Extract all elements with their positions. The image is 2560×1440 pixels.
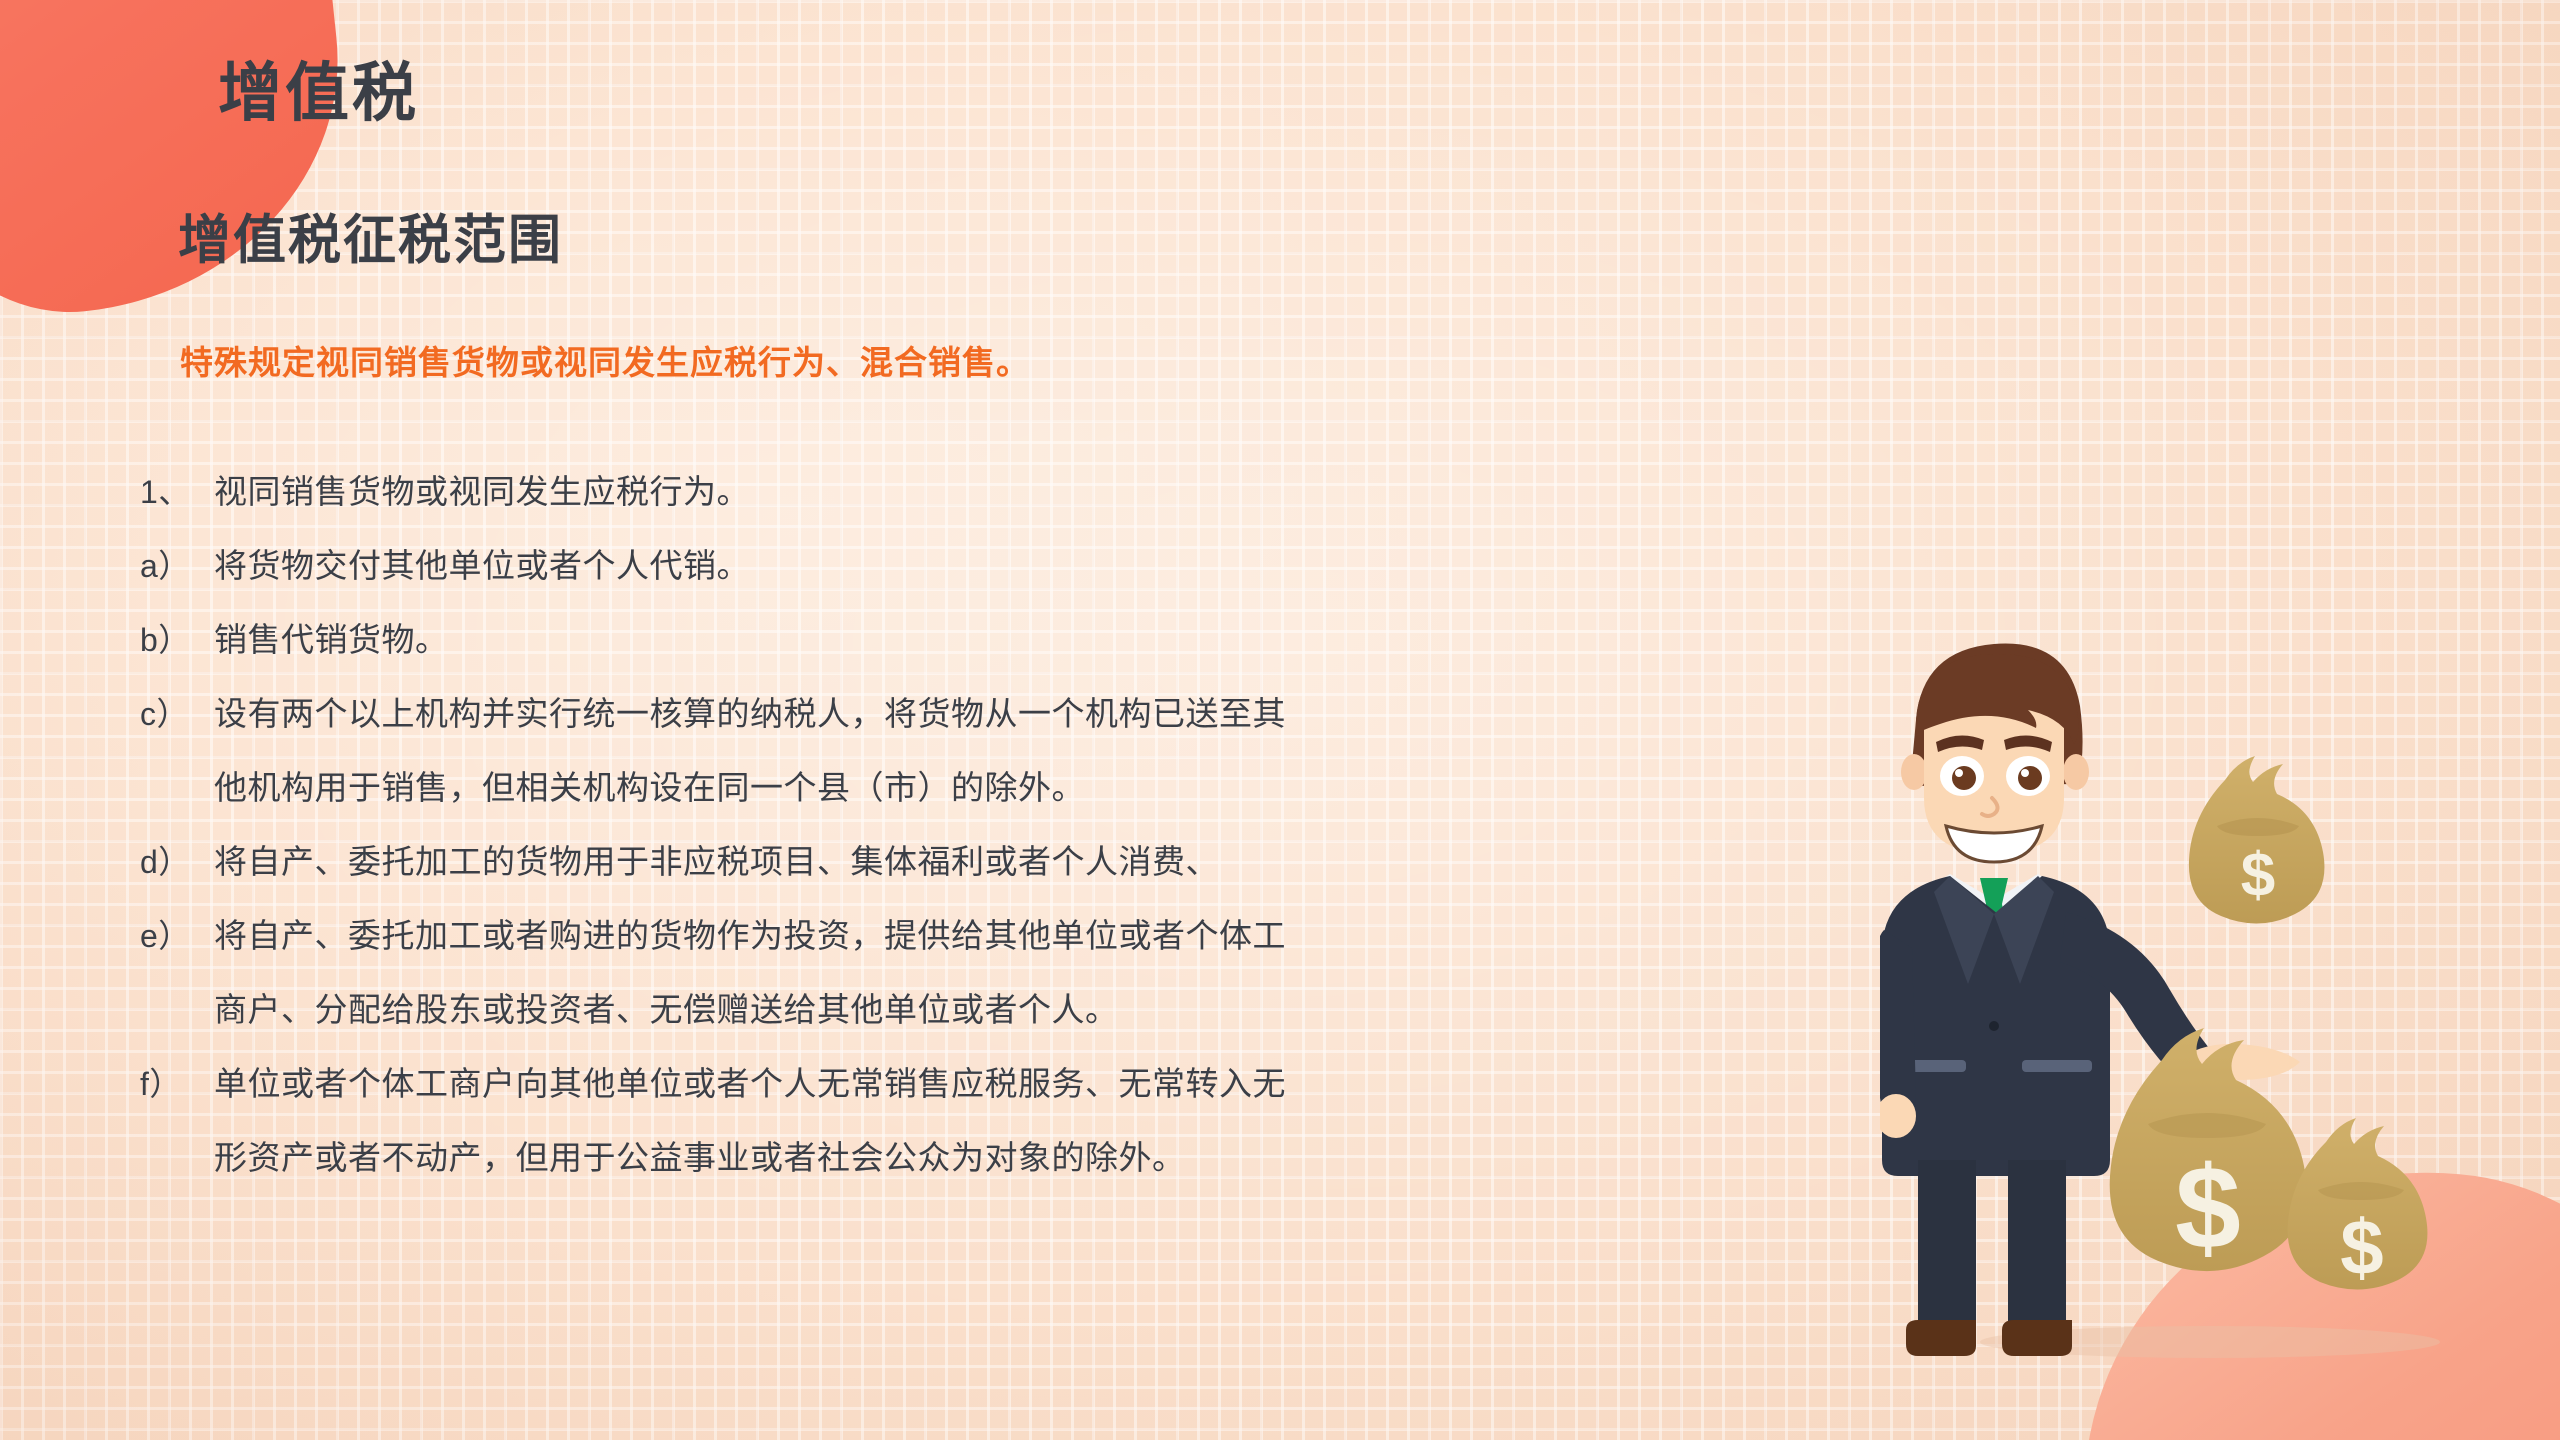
body-line: b） 销售代销货物。 xyxy=(140,603,1820,677)
eye-highlight-left xyxy=(1955,769,1963,777)
body-content: 1、 视同销售货物或视同发生应税行为。 a） 将货物交付其他单位或者个人代销。 … xyxy=(140,455,1820,1195)
shoe-left xyxy=(1906,1320,1976,1356)
suit-pocket-right xyxy=(2022,1060,2092,1072)
leg-right xyxy=(2008,1160,2066,1338)
body-line: e） 将自产、委托加工或者购进的货物作为投资，提供给其他单位或者个体工 xyxy=(140,899,1820,973)
line-text: 商户、分配给股东或投资者、无偿赠送给其他单位或者个人。 xyxy=(214,973,1820,1047)
body-line: f） 单位或者个体工商户向其他单位或者个人无常销售应税服务、无常转入无 xyxy=(140,1047,1820,1121)
ear-left xyxy=(1901,754,1927,790)
small-money-bag: $ xyxy=(2288,1118,2428,1291)
page-subtitle: 增值税征税范围 xyxy=(178,198,563,274)
line-text: 将货物交付其他单位或者个人代销。 xyxy=(214,529,1820,603)
line-text: 将自产、委托加工或者购进的货物作为投资，提供给其他单位或者个体工 xyxy=(214,899,1820,973)
pupil-right xyxy=(2018,766,2042,790)
line-text: 单位或者个体工商户向其他单位或者个人无常销售应税服务、无常转入无 xyxy=(214,1047,1820,1121)
money-bag-dollar-sign: $ xyxy=(2241,841,2275,910)
line-marker: 1、 xyxy=(140,455,214,529)
line-text: 视同销售货物或视同发生应税行为。 xyxy=(214,455,1820,529)
line-text: 销售代销货物。 xyxy=(214,603,1820,677)
body-line: d） 将自产、委托加工的货物用于非应税项目、集体福利或者个人消费、 xyxy=(140,825,1820,899)
body-line-continuation: 商户、分配给股东或投资者、无偿赠送给其他单位或者个人。 xyxy=(140,973,1820,1047)
line-marker: a） xyxy=(140,529,214,603)
arm-left xyxy=(1880,930,1916,1116)
held-money-bag: $ xyxy=(2189,756,2325,924)
page-title: 增值税 xyxy=(218,42,419,134)
shoe-right xyxy=(2002,1320,2072,1356)
pupil-left xyxy=(1952,766,1976,790)
line-text: 他机构用于销售，但相关机构设在同一个县（市）的除外。 xyxy=(214,751,1820,825)
body-line: c） 设有两个以上机构并实行统一核算的纳税人，将货物从一个机构已送至其 xyxy=(140,677,1820,751)
line-marker: c） xyxy=(140,677,214,751)
businessman-money-illustration: $ xyxy=(1880,630,2560,1390)
line-text: 形资产或者不动产，但用于公益事业或者社会公众为对象的除外。 xyxy=(214,1121,1820,1195)
line-marker: f） xyxy=(140,1047,214,1121)
ear-right xyxy=(2063,754,2089,790)
money-bag-dollar-sign: $ xyxy=(2175,1142,2241,1274)
line-text: 将自产、委托加工的货物用于非应税项目、集体福利或者个人消费、 xyxy=(214,825,1820,899)
money-bag-dollar-sign: $ xyxy=(2340,1203,2383,1291)
body-line: 1、 视同销售货物或视同发生应税行为。 xyxy=(140,455,1820,529)
line-marker: d） xyxy=(140,825,214,899)
leg-left xyxy=(1918,1160,1976,1338)
eye-highlight-right xyxy=(2021,769,2029,777)
lead-statement: 特殊规定视同销售货物或视同发生应税行为、混合销售。 xyxy=(180,336,1030,384)
slide-root: 增值税 增值税征税范围 特殊规定视同销售货物或视同发生应税行为、混合销售。 1、… xyxy=(0,0,2560,1440)
body-line: a） 将货物交付其他单位或者个人代销。 xyxy=(140,529,1820,603)
line-text: 设有两个以上机构并实行统一核算的纳税人，将货物从一个机构已送至其 xyxy=(214,677,1820,751)
body-line-continuation: 形资产或者不动产，但用于公益事业或者社会公众为对象的除外。 xyxy=(140,1121,1820,1195)
line-marker: e） xyxy=(140,899,214,973)
body-line-continuation: 他机构用于销售，但相关机构设在同一个县（市）的除外。 xyxy=(140,751,1820,825)
line-marker: b） xyxy=(140,603,214,677)
suit-button xyxy=(1989,1021,1999,1031)
